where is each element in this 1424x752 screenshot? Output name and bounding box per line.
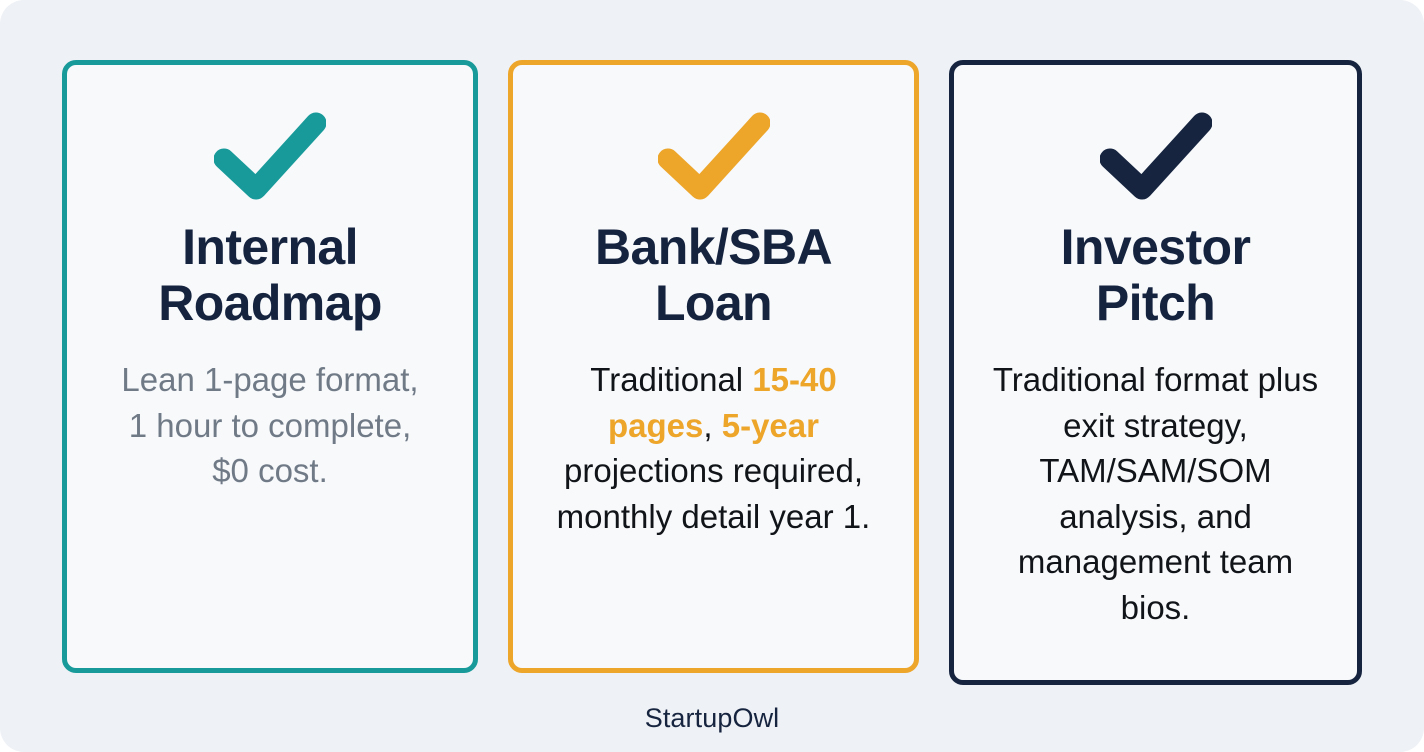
card-internal-roadmap: Internal Roadmap Lean 1-page format, 1 h… xyxy=(62,60,478,673)
card-title: Investor Pitch xyxy=(1011,219,1301,331)
checkmark-icon xyxy=(214,107,326,205)
card-title: Internal Roadmap xyxy=(120,219,420,331)
card-body: Lean 1-page format, 1 hour to complete, … xyxy=(120,357,420,494)
brand-footer: StartupOwl xyxy=(0,703,1424,734)
card-body: Traditional 15-40 pages, 5-year projecti… xyxy=(549,357,879,539)
card-body: Traditional format plus exit strategy, T… xyxy=(983,357,1328,630)
highlighted-text: 5-year xyxy=(722,407,819,444)
brand-name: StartupOwl xyxy=(645,703,780,733)
card-title: Bank/SBA Loan xyxy=(569,219,859,331)
infographic-canvas: Internal Roadmap Lean 1-page format, 1 h… xyxy=(0,0,1424,752)
checkmark-icon xyxy=(1100,107,1212,205)
checkmark-icon xyxy=(658,107,770,205)
card-investor-pitch: Investor Pitch Traditional format plus e… xyxy=(949,60,1362,685)
card-bank-sba-loan: Bank/SBA Loan Traditional 15-40 pages, 5… xyxy=(508,60,919,673)
comparison-cards-row: Internal Roadmap Lean 1-page format, 1 h… xyxy=(0,0,1424,752)
